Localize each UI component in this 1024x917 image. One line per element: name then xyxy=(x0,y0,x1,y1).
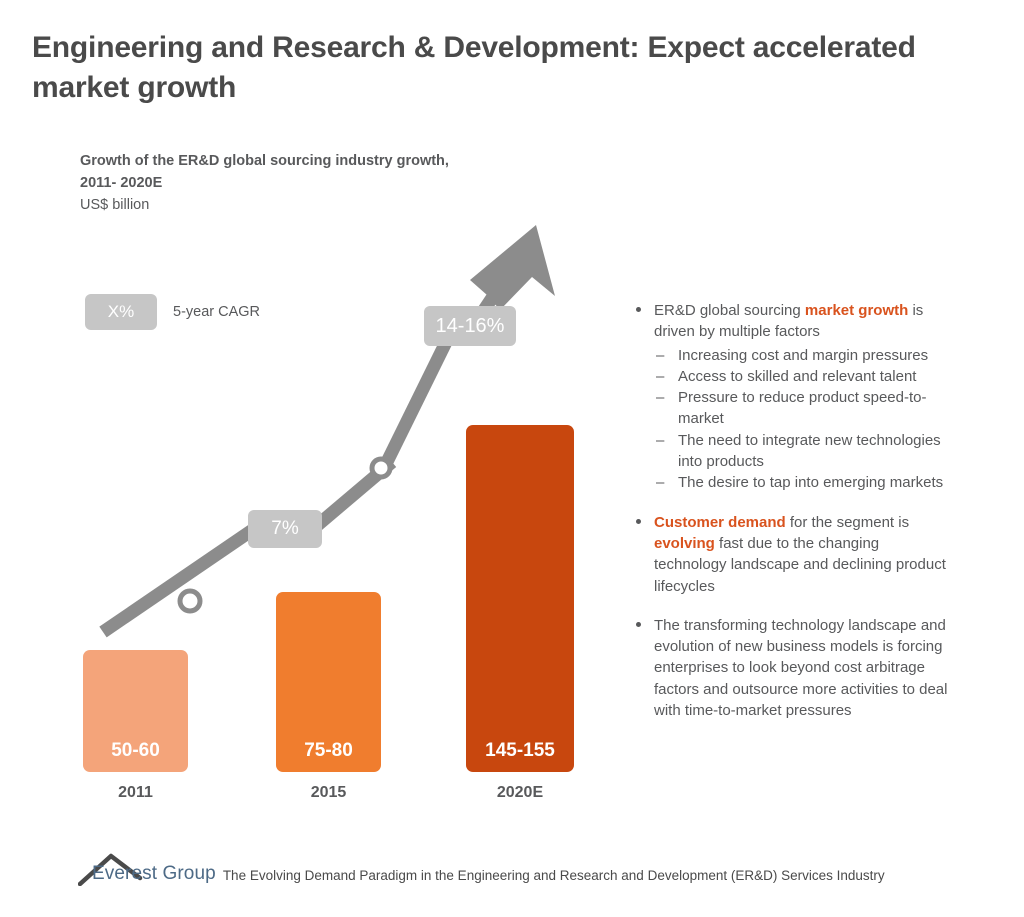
dash-icon: – xyxy=(656,345,664,366)
insight-sub-item-text: Pressure to reduce product speed-to-mark… xyxy=(678,389,926,427)
bar-value-2020e: 145-155 xyxy=(466,740,574,762)
bar-value-2015: 75-80 xyxy=(276,740,381,762)
dash-icon: – xyxy=(656,472,664,493)
axis-label-2015: 2015 xyxy=(276,784,381,802)
bar-2020e[interactable]: 145-155 xyxy=(466,425,574,772)
dash-icon: – xyxy=(656,430,664,451)
insight-text: The transforming technology landscape an… xyxy=(654,617,947,719)
bullet-dot-icon xyxy=(636,622,641,627)
insight-bullet: The transforming technology landscape an… xyxy=(632,615,952,721)
everest-group-logo-text: Everest Group xyxy=(92,863,216,885)
insight-sub-item-text: Access to skilled and relevant talent xyxy=(678,368,916,385)
insight-sub-item-text: The desire to tap into emerging markets xyxy=(678,474,943,491)
bar-value-2011: 50-60 xyxy=(83,740,188,762)
insight-text: ER&D global sourcing xyxy=(654,302,805,319)
insight-sub-item: –Increasing cost and margin pressures xyxy=(654,345,952,366)
cagr-badge-2011-2015: 7% xyxy=(248,510,322,548)
axis-label-2011: 2011 xyxy=(83,784,188,802)
insight-highlight: evolving xyxy=(654,535,715,552)
insight-bullet-text: Customer demand for the segment is evolv… xyxy=(654,512,952,597)
insight-text: for the segment is xyxy=(786,514,909,531)
bullet-dot-icon xyxy=(636,519,641,524)
insight-sub-item: –The desire to tap into emerging markets xyxy=(654,472,952,493)
footer-caption: The Evolving Demand Paradigm in the Engi… xyxy=(223,868,885,883)
dash-icon: – xyxy=(656,366,664,387)
bar-2015[interactable]: 75-80 xyxy=(276,592,381,772)
footer: Everest Group The Evolving Demand Paradi… xyxy=(78,852,885,886)
insights-panel: ER&D global sourcing market growth is dr… xyxy=(632,300,952,739)
bar-2011[interactable]: 50-60 xyxy=(83,650,188,772)
insight-bullet-text: ER&D global sourcing market growth is dr… xyxy=(654,300,952,343)
insight-sub-list: –Increasing cost and margin pressures–Ac… xyxy=(654,345,952,494)
bullet-dot-icon xyxy=(636,307,641,312)
insight-bullet: ER&D global sourcing market growth is dr… xyxy=(632,300,952,494)
everest-group-logo: Everest Group xyxy=(78,852,216,886)
insight-highlight: market growth xyxy=(805,302,908,319)
insight-bullet-text: The transforming technology landscape an… xyxy=(654,615,952,721)
insight-sub-item-text: The need to integrate new technologies i… xyxy=(678,432,941,470)
insight-highlight: Customer demand xyxy=(654,514,786,531)
insight-sub-item: –Access to skilled and relevant talent xyxy=(654,366,952,387)
dash-icon: – xyxy=(656,387,664,408)
insight-bullet: Customer demand for the segment is evolv… xyxy=(632,512,952,597)
axis-label-2020e: 2020E xyxy=(466,784,574,802)
insight-sub-item: –Pressure to reduce product speed-to-mar… xyxy=(654,387,952,430)
insight-sub-item-text: Increasing cost and margin pressures xyxy=(678,347,928,364)
cagr-badge-2015-2020: 14-16% xyxy=(424,306,516,346)
insight-sub-item: –The need to integrate new technologies … xyxy=(654,430,952,473)
bar-chart: 7% 14-16% 50-60 75-80 145-155 2011 2015 … xyxy=(0,0,620,830)
